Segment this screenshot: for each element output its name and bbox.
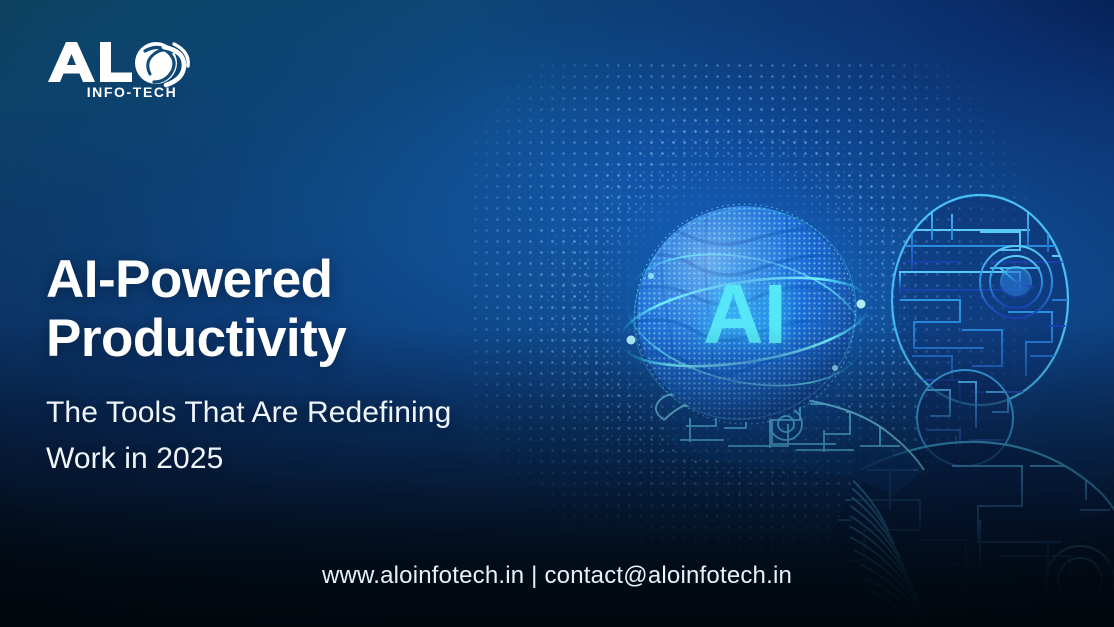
page-subtitle: The Tools That Are Redefining Work in 20… <box>46 390 586 481</box>
page-title: AI-Powered Productivity <box>46 250 566 369</box>
globe-swoosh-icon <box>135 42 188 85</box>
logo-subtext: INFO-TECH <box>87 84 178 100</box>
subhead-line-2: Work in 2025 <box>46 436 586 482</box>
subhead-line-1: The Tools That Are Redefining <box>46 396 451 429</box>
brand-logo[interactable]: INFO-TECH <box>46 38 216 100</box>
headline-line-1: AI-Powered <box>46 250 333 309</box>
promotional-banner: AI INFO-TECH AI-Powered Productiv <box>0 0 1114 627</box>
contact-footer[interactable]: www.aloinfotech.in | contact@aloinfotech… <box>0 562 1114 590</box>
headline-line-2: Productivity <box>46 309 566 368</box>
